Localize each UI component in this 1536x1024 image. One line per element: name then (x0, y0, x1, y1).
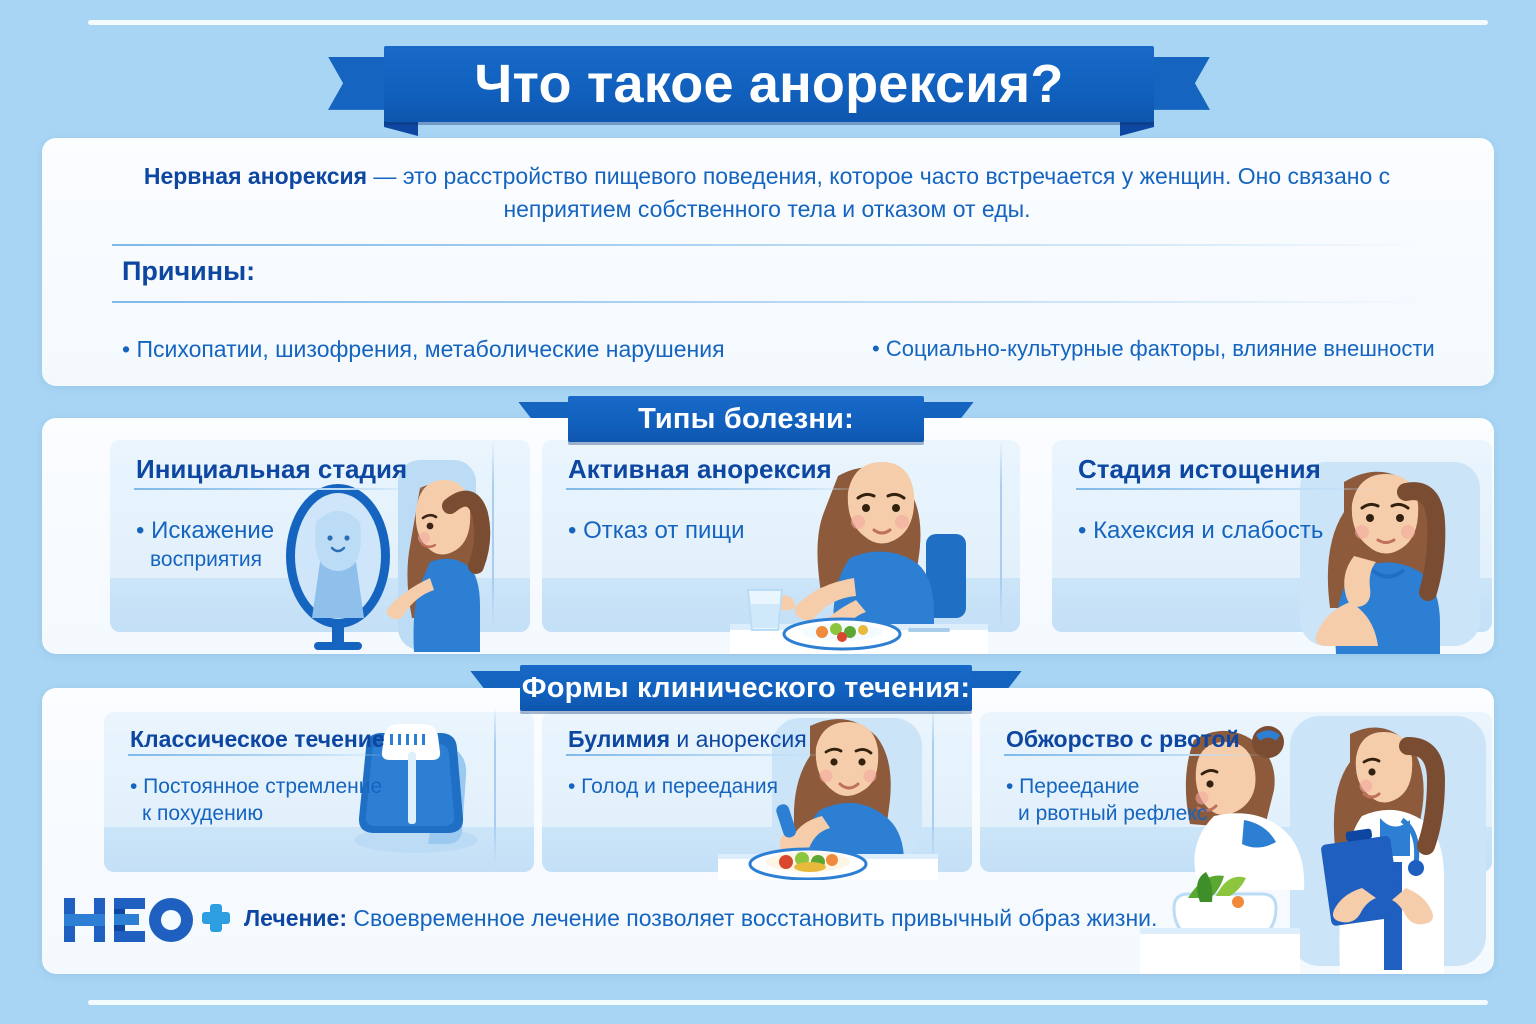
type-card-divider (566, 488, 866, 490)
form-card-divider (1004, 754, 1264, 756)
type-card-bullet-main: • Искажение (136, 517, 274, 544)
form-card-bullet-main: • Переедание (1006, 775, 1139, 798)
type-card-bullet: • Отказ от пищи (568, 516, 745, 547)
intro-body: — это расстройство пищевого поведения, к… (367, 163, 1390, 222)
form-card-divider (566, 754, 826, 756)
cause-item-1: • Психопатии, шизофрения, метаболические… (122, 336, 725, 363)
treatment-label: Лечение: (244, 905, 347, 931)
ribbon-tail-right (1152, 57, 1210, 110)
types-banner-body: Типы болезни: (568, 396, 924, 442)
causes-heading: Причины: (122, 256, 255, 287)
form-card-separator-1 (494, 706, 496, 866)
type-card-title: Стадия истощения (1078, 454, 1321, 485)
type-card-title: Инициальная стадия (136, 454, 407, 485)
forms-banner-body: Формы клинического течения: (520, 665, 972, 711)
form-card-divider (128, 754, 388, 756)
types-banner-label: Типы болезни: (638, 405, 854, 434)
treatment-body: Своевременное лечение позволяет восстано… (347, 905, 1157, 931)
cause-item-2: • Социально-культурные факторы, влияние … (872, 336, 1435, 362)
form-card-bullet: • Голод и переедания (568, 774, 778, 801)
form-card-bullet-main: • Голод и переедания (568, 775, 778, 798)
form-card-bullet-main: • Постоянное стремление (130, 775, 382, 798)
form-card-title: Обжорство с рвотой (1006, 726, 1240, 753)
form-card-title-light: и анорексия (670, 726, 807, 752)
types-banner: Типы болезни: (568, 396, 924, 442)
neo-plus-logo (62, 892, 232, 948)
infographic-root: Что такое анорексия? Нервная анорексия —… (0, 0, 1536, 1024)
type-card-bullet-main: • Отказ от пищи (568, 517, 745, 544)
form-card-title: Булимия и анорексия (568, 726, 807, 753)
intro-paragraph: Нервная анорексия — это расстройство пищ… (112, 160, 1422, 227)
intro-lead: Нервная анорексия (144, 163, 367, 189)
type-card-title: Активная анорексия (568, 454, 832, 485)
form-card-title-strong: Булимия (568, 726, 670, 752)
forms-banner: Формы клинического течения: (520, 665, 972, 711)
intro-divider-2 (112, 301, 1430, 303)
form-card-bullet: • Переедание и рвотный рефлекс (1006, 774, 1207, 828)
form-card-title: Классическое течение (130, 726, 385, 753)
forms-banner-label: Формы клинического течения: (522, 674, 970, 703)
top-divider-line (88, 20, 1488, 25)
page-title: Что такое анорексия? (474, 57, 1063, 111)
type-card-bullet: • Искажение восприятия (136, 516, 274, 574)
neo-plus-logo-svg (62, 892, 232, 948)
form-card-bullet-sub: и рвотный рефлекс (1018, 801, 1207, 828)
type-card-bullet-main: • Кахексия и слабость (1078, 517, 1323, 544)
intro-divider-1 (112, 244, 1430, 246)
type-card-bullet: • Кахексия и слабость (1078, 516, 1323, 547)
type-card-divider (134, 488, 434, 490)
type-card-separator-2 (1000, 440, 1002, 630)
title-banner-body: Что такое анорексия? (384, 46, 1154, 122)
form-card-bullet-sub: к похудению (142, 801, 382, 828)
treatment-line: Лечение: Своевременное лечение позволяет… (244, 905, 1157, 932)
type-card-divider (1076, 488, 1376, 490)
ribbon-tail-left (328, 57, 386, 110)
title-banner: Что такое анорексия? (384, 46, 1154, 122)
ribbon-fold-left (384, 121, 418, 136)
intro-panel: Нервная анорексия — это расстройство пищ… (42, 138, 1494, 386)
form-card-bullet: • Постоянное стремление к похудению (130, 774, 382, 828)
ribbon-fold-right (1120, 121, 1154, 136)
bottom-divider-line (88, 1000, 1488, 1005)
type-card-bullet-sub: восприятия (150, 547, 274, 574)
